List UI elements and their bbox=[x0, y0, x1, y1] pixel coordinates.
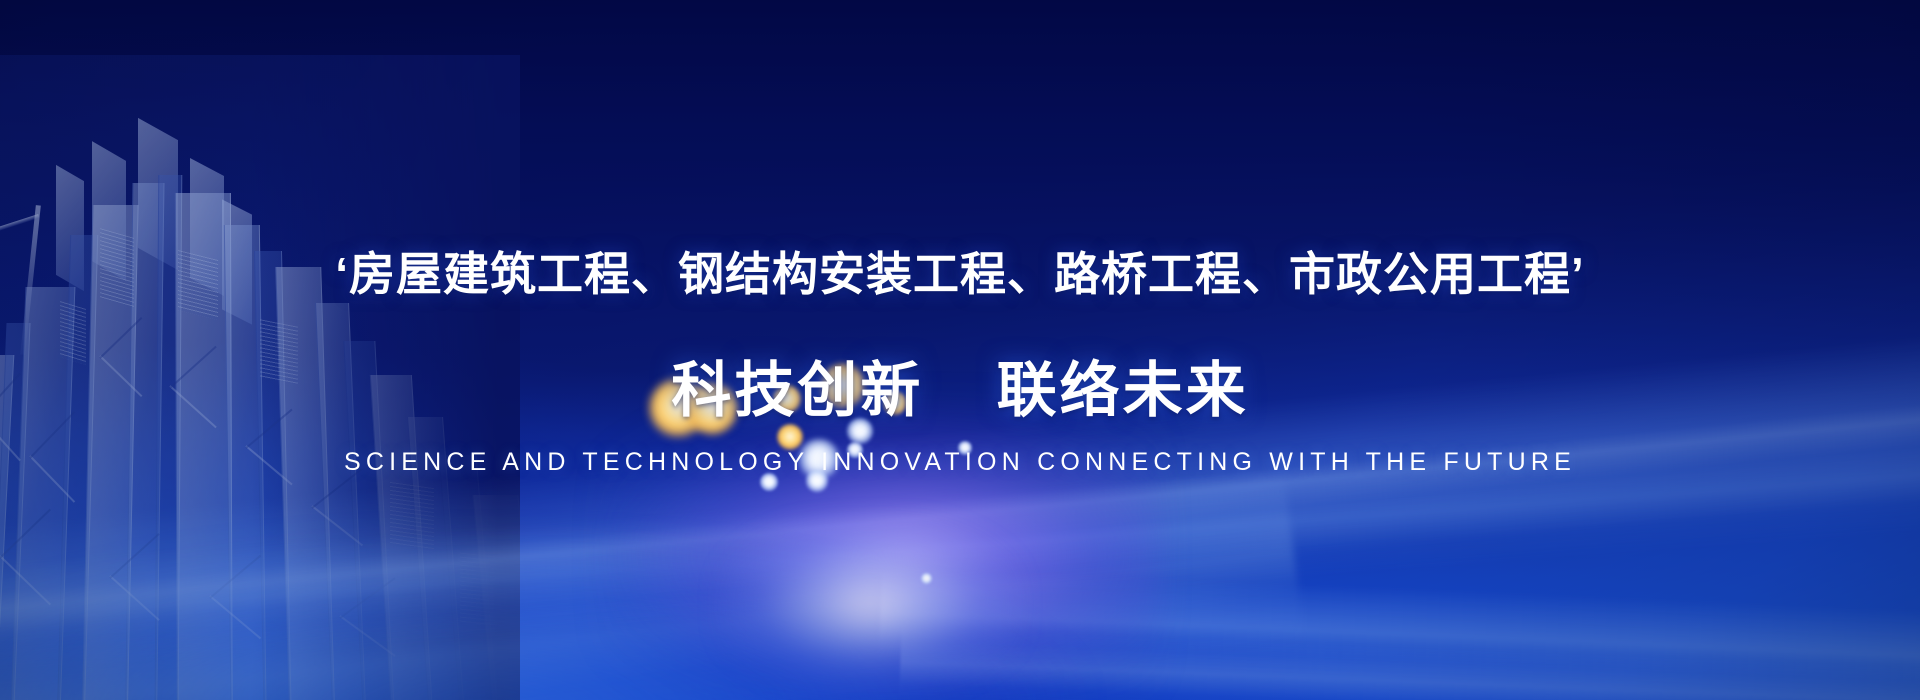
slogan-part-right: 联络未来 bbox=[997, 357, 1249, 424]
slogan-line: 科技创新 联络未来 bbox=[0, 361, 1920, 421]
hero-banner: ‘房屋建筑工程、钢结构安装工程、路桥工程、市政公用工程’ 科技创新 联络未来 S… bbox=[0, 0, 1920, 700]
building-louvre-panel bbox=[390, 482, 434, 552]
building-louvre-panel bbox=[460, 553, 506, 628]
slogan-part-left: 科技创新 bbox=[671, 357, 923, 424]
subtitle-english: SCIENCE AND TECHNOLOGY INNOVATION CONNEC… bbox=[0, 450, 1920, 475]
building-louvre-panel bbox=[60, 301, 86, 365]
headline-scope-quote: ‘房屋建筑工程、钢结构安装工程、路桥工程、市政公用工程’ bbox=[0, 251, 1920, 297]
